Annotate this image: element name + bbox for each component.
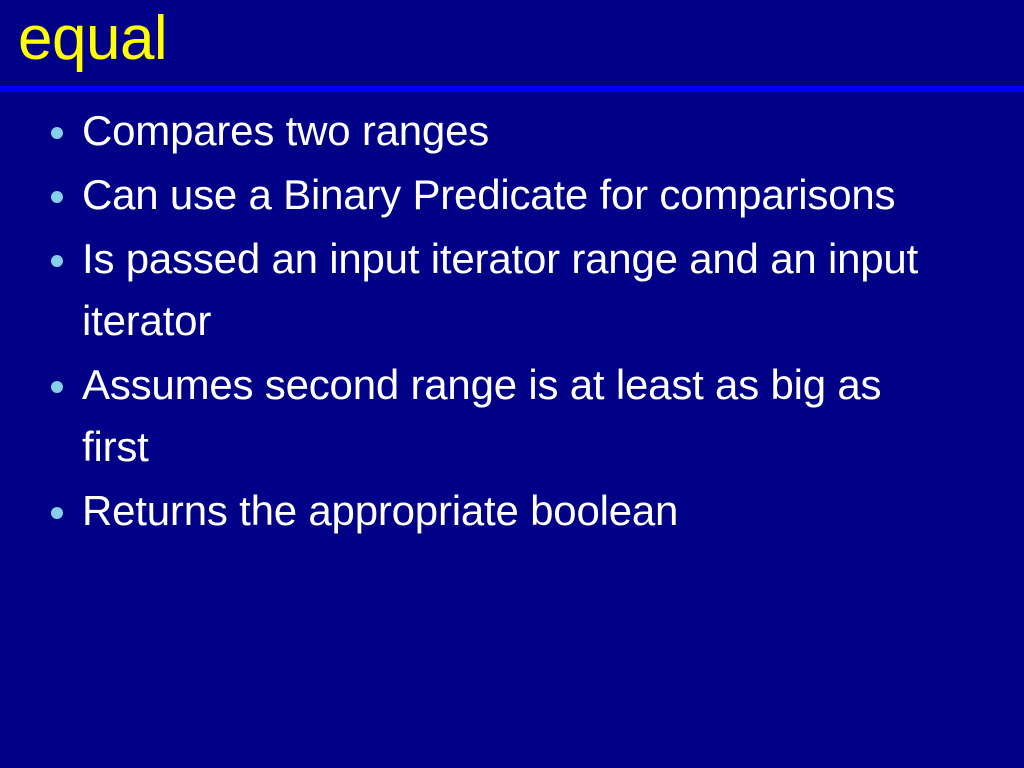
bullet-dot-icon bbox=[51, 507, 63, 519]
bullet-dot-icon bbox=[51, 381, 63, 393]
bullet-dot-icon bbox=[51, 127, 63, 139]
bullet-list: Compares two rangesCan use a Binary Pred… bbox=[0, 100, 1024, 542]
list-item-label: Can use a Binary Predicate for compariso… bbox=[82, 164, 934, 226]
list-item-label: Returns the appropriate boolean bbox=[82, 480, 934, 542]
title-divider-rule bbox=[0, 86, 1024, 92]
list-item: Compares two ranges bbox=[0, 100, 1024, 162]
list-item-label: Is passed an input iterator range and an… bbox=[82, 228, 934, 352]
list-item: Can use a Binary Predicate for compariso… bbox=[0, 164, 1024, 226]
bullet-dot-icon bbox=[51, 255, 63, 267]
list-item-label: Assumes second range is at least as big … bbox=[82, 354, 934, 478]
page-title: equal bbox=[18, 0, 167, 80]
bullet-dot-icon bbox=[51, 191, 63, 203]
presentation-slide: equal Compares two rangesCan use a Binar… bbox=[0, 0, 1024, 768]
list-item-label: Compares two ranges bbox=[82, 100, 934, 162]
slide-title-area: equal bbox=[0, 0, 1024, 86]
list-item: Assumes second range is at least as big … bbox=[0, 354, 1024, 478]
slide-body: Compares two rangesCan use a Binary Pred… bbox=[0, 100, 1024, 544]
list-item: Is passed an input iterator range and an… bbox=[0, 228, 1024, 352]
list-item: Returns the appropriate boolean bbox=[0, 480, 1024, 542]
